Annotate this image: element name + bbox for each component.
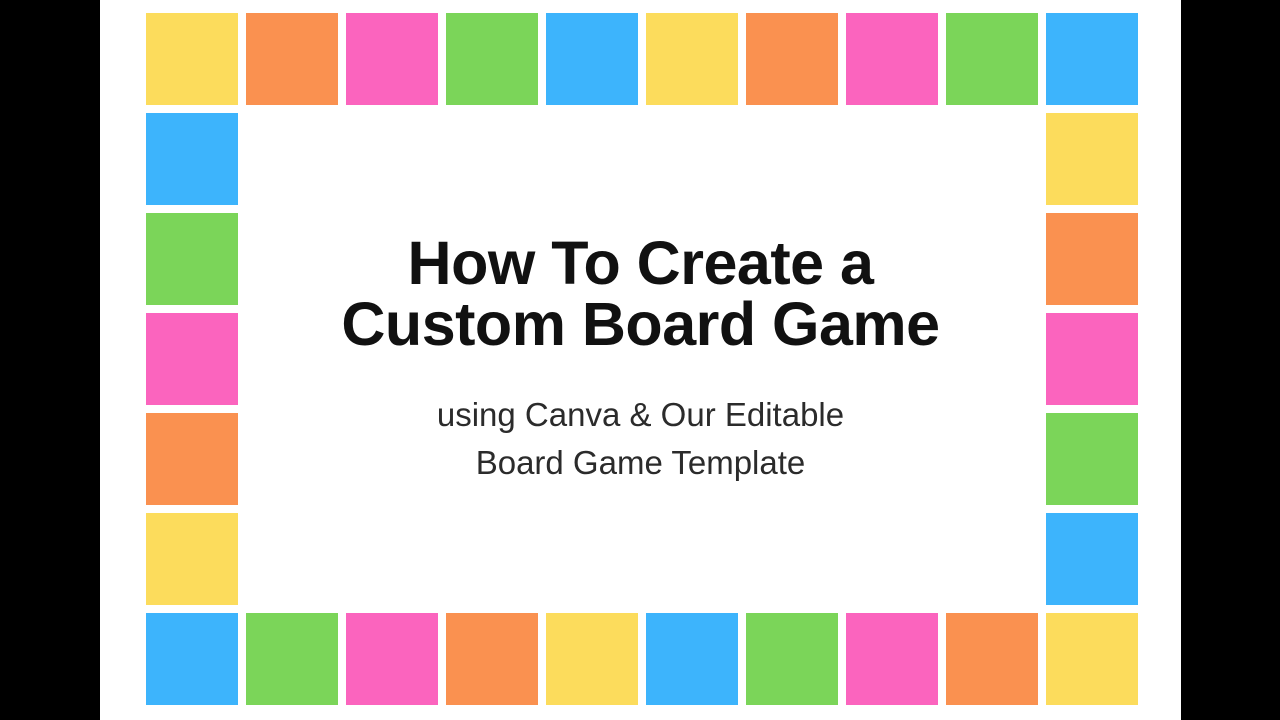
board-tile-bottom-9-orange: [946, 613, 1038, 705]
board-tile-bottom-10-yellow: [1046, 613, 1138, 705]
letterbox-bar-right: [1181, 0, 1280, 720]
letterbox-bar-left: [0, 0, 100, 720]
board-tile-top-6-yellow: [646, 13, 738, 105]
board-tile-bottom-6-blue: [646, 613, 738, 705]
board-tile-top-2-orange: [246, 13, 338, 105]
board-tile-right-3-pink: [1046, 313, 1138, 405]
board-tile-right-4-green: [1046, 413, 1138, 505]
board-tile-left-2-green: [146, 213, 238, 305]
board-tile-top-1-yellow: [146, 13, 238, 105]
board-tile-top-10-blue: [1046, 13, 1138, 105]
board-tile-top-7-orange: [746, 13, 838, 105]
slide-canvas: How To Create a Custom Board Game using …: [100, 0, 1181, 720]
board-tile-top-9-green: [946, 13, 1038, 105]
board-tile-bottom-8-pink: [846, 613, 938, 705]
board-tile-top-8-pink: [846, 13, 938, 105]
board-tile-right-5-blue: [1046, 513, 1138, 605]
board-tile-left-1-blue: [146, 113, 238, 205]
board-tile-bottom-3-pink: [346, 613, 438, 705]
board-tile-bottom-1-blue: [146, 613, 238, 705]
board-tile-bottom-4-orange: [446, 613, 538, 705]
board-tile-bottom-5-yellow: [546, 613, 638, 705]
page-title: How To Create a Custom Board Game: [341, 233, 939, 355]
board-tile-right-2-orange: [1046, 213, 1138, 305]
board-tile-bottom-7-green: [746, 613, 838, 705]
board-tile-right-1-yellow: [1046, 113, 1138, 205]
slide-stage: How To Create a Custom Board Game using …: [0, 0, 1280, 720]
board-tile-top-4-green: [446, 13, 538, 105]
board-tile-bottom-2-green: [246, 613, 338, 705]
board-tile-left-5-yellow: [146, 513, 238, 605]
board-tile-left-3-pink: [146, 313, 238, 405]
board-tile-left-4-orange: [146, 413, 238, 505]
page-subtitle: using Canva & Our Editable Board Game Te…: [437, 391, 844, 487]
slide-text-block: How To Create a Custom Board Game using …: [100, 0, 1181, 720]
board-tile-top-3-pink: [346, 13, 438, 105]
board-tile-top-5-blue: [546, 13, 638, 105]
